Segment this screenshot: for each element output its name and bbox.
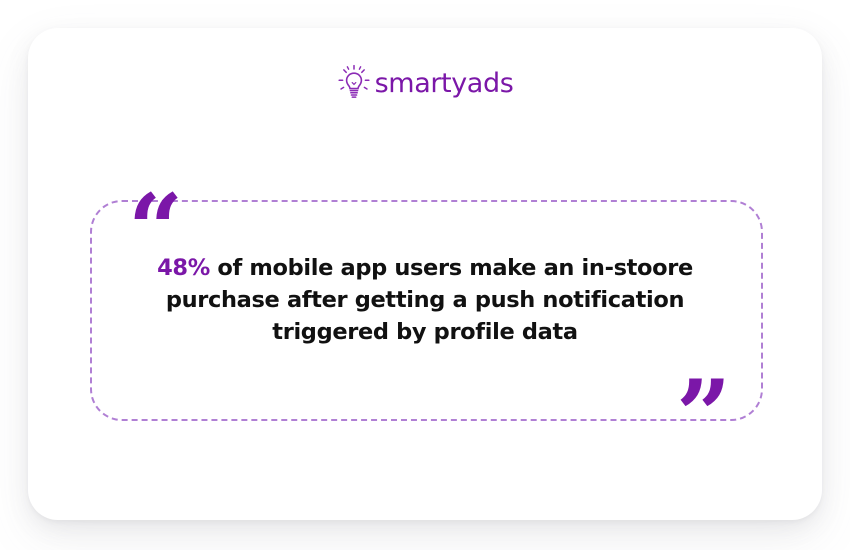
closing-quote-icon: ” xyxy=(676,368,731,464)
quote-body-text: of mobile app users make an in-stoore pu… xyxy=(166,255,693,345)
lightbulb-idea-icon xyxy=(337,64,371,102)
quote-text: 48% of mobile app users make an in-stoor… xyxy=(126,252,724,348)
brand-lockup: smartyads xyxy=(28,64,822,102)
quote-card: smartyads “ 48% of mobile app users make… xyxy=(28,28,822,520)
slide-stage: smartyads “ 48% of mobile app users make… xyxy=(0,0,850,550)
brand-wordmark: smartyads xyxy=(375,70,514,97)
statistic-value: 48% xyxy=(157,255,210,281)
